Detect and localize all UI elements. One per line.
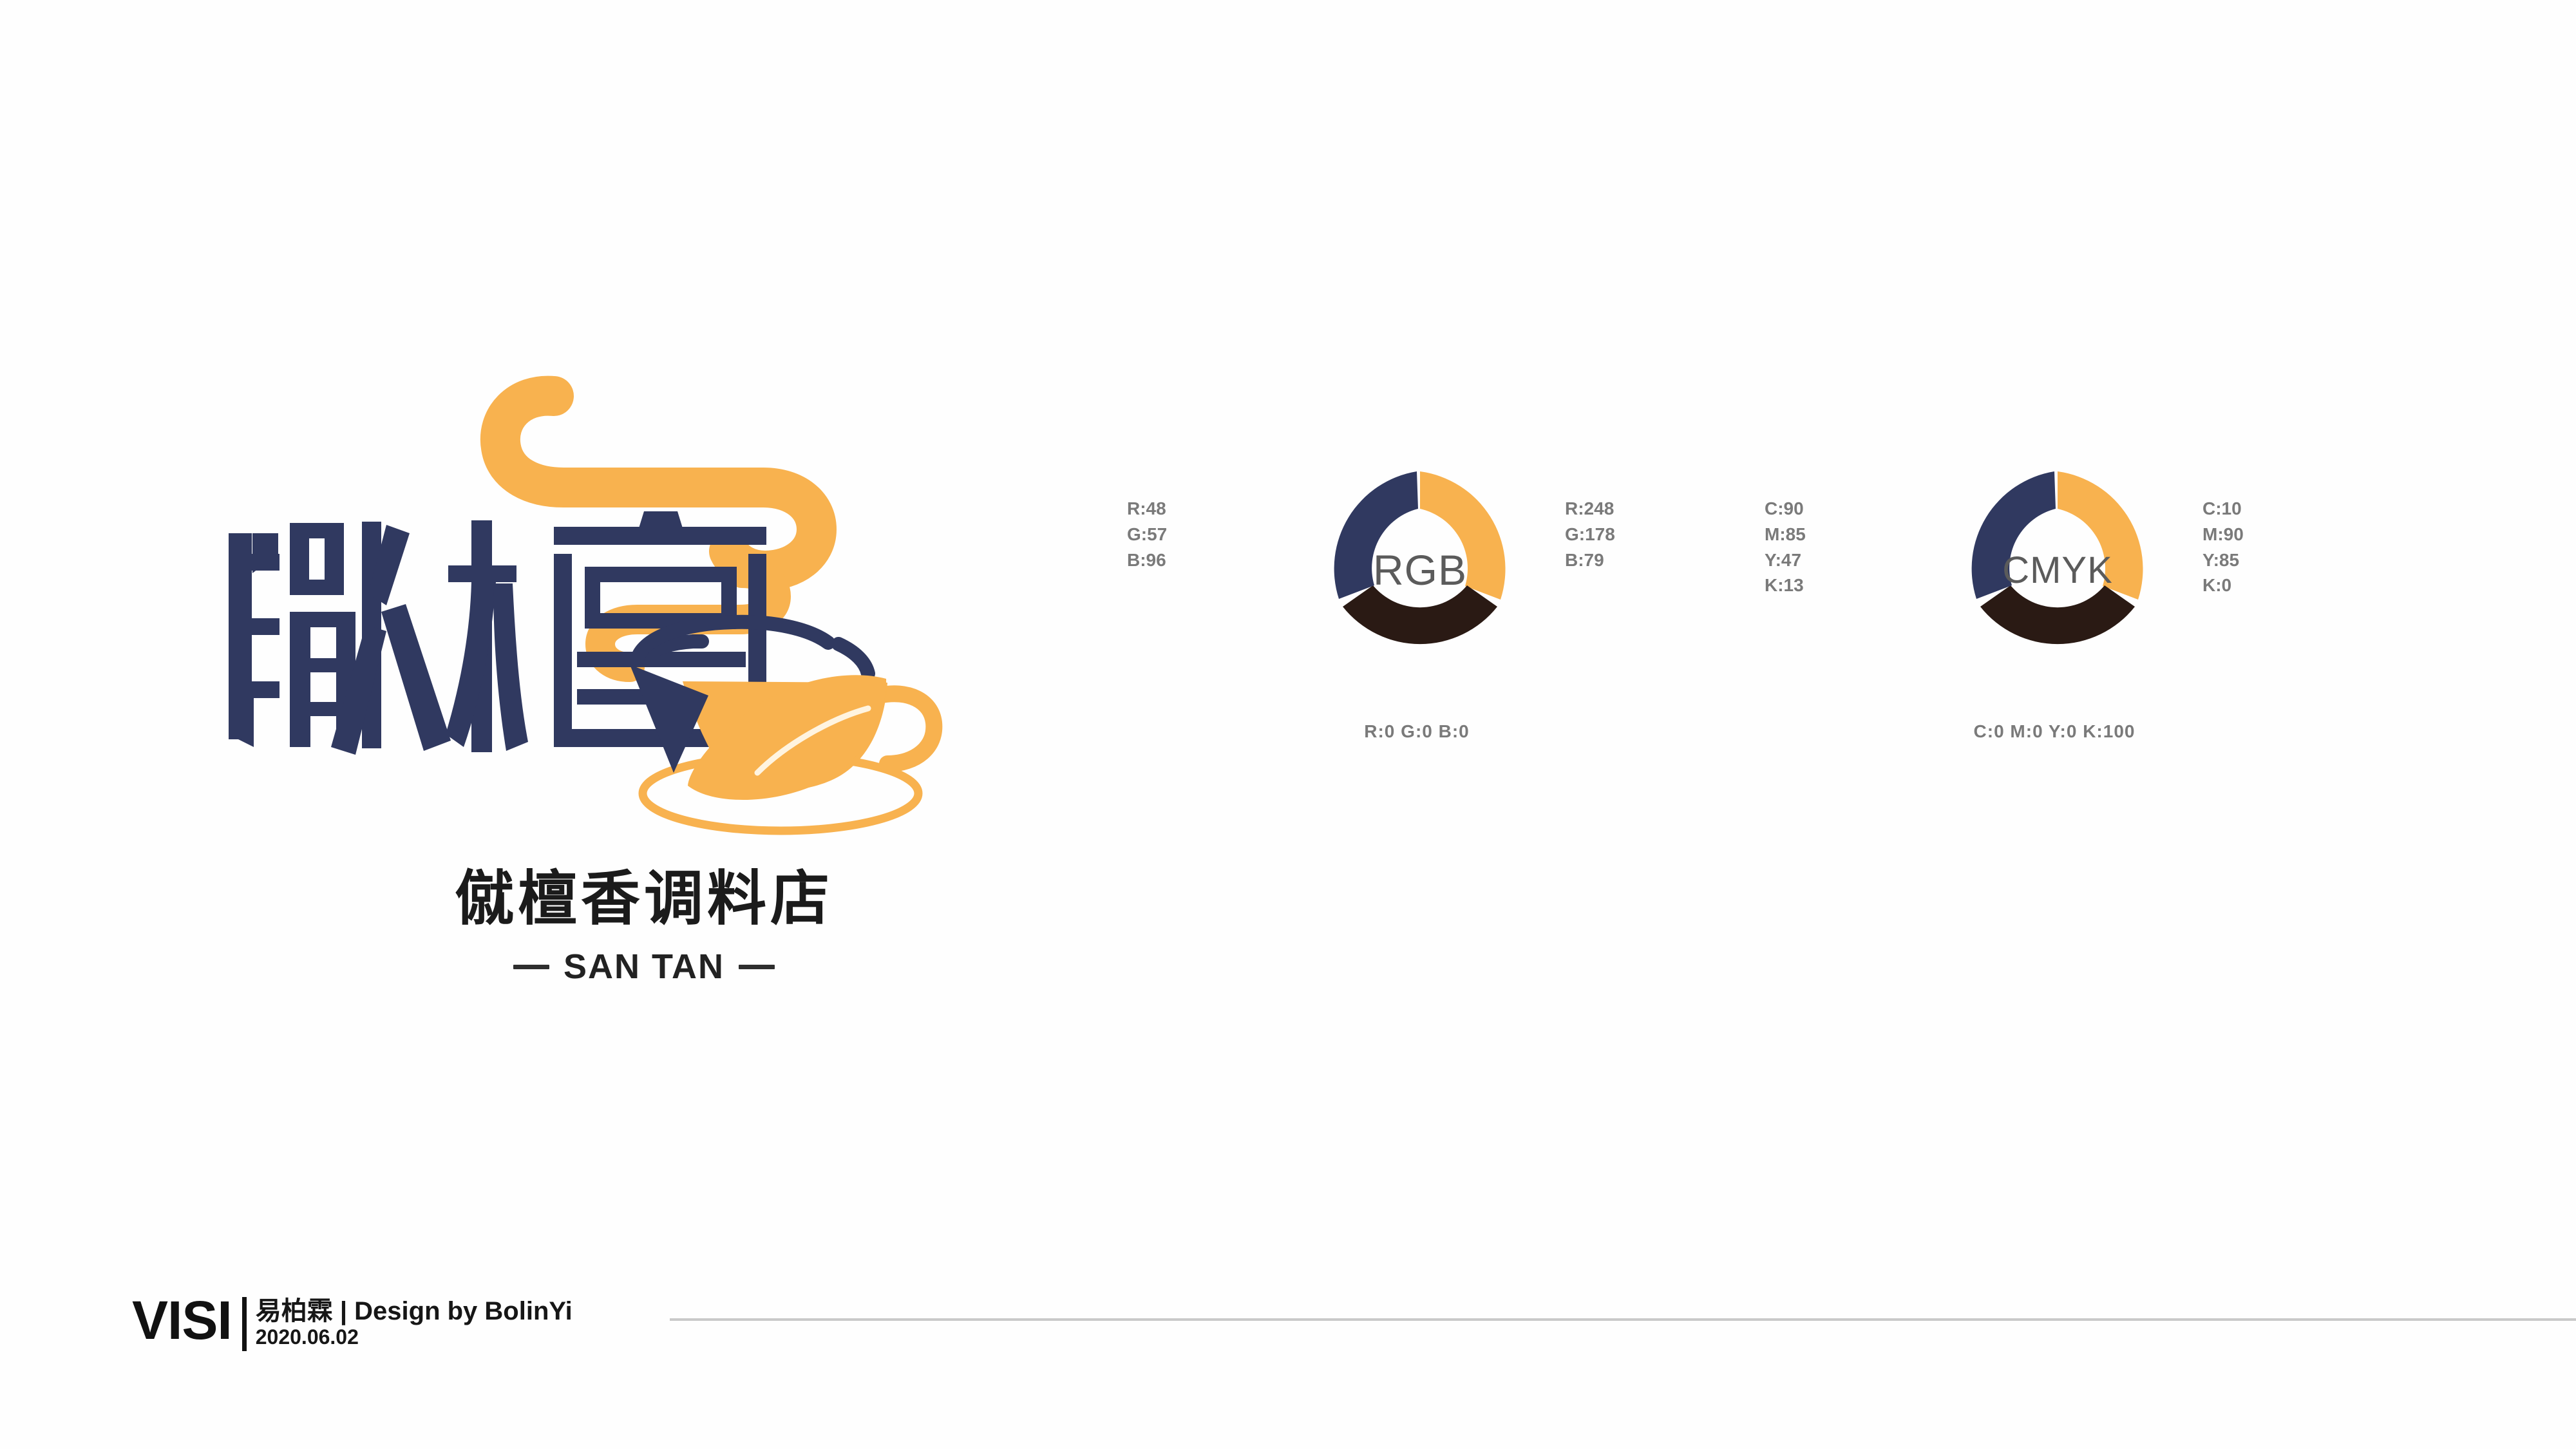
rgb-orange-r: R:248 — [1565, 496, 1615, 522]
cmyk-navy-c: C:90 — [1765, 496, 1806, 522]
rule-dash-right — [739, 965, 775, 969]
wordmark-glyph-1 — [229, 522, 451, 755]
latin-name: SAN TAN — [563, 947, 724, 987]
rgb-orange-b: B:79 — [1565, 547, 1615, 573]
cmyk-navy-k: K:13 — [1765, 573, 1806, 598]
rgb-navy-r: R:48 — [1127, 496, 1167, 522]
cmyk-orange-m: M:90 — [2202, 522, 2244, 547]
cmyk-donut: CMYK — [1951, 464, 2164, 676]
cmyk-orange-c: C:10 — [2202, 496, 2244, 522]
rgb-label-black: R:0 G:0 B:0 — [1127, 721, 1707, 742]
footer-divider — [670, 1318, 2576, 1321]
cmyk-label-orange: C:10 M:90 Y:85 K:0 — [2202, 496, 2244, 598]
cmyk-color-chart: C:90 M:85 Y:47 K:13 C:10 M:90 Y:85 K:0 C… — [1765, 451, 2344, 979]
rgb-navy-g: G:57 — [1127, 522, 1167, 547]
footer-vertical-bar — [242, 1297, 247, 1351]
rgb-orange-g: G:178 — [1565, 522, 1615, 547]
cmyk-segment-navy — [1972, 471, 2056, 599]
rgb-donut: RGB — [1314, 464, 1526, 676]
cmyk-orange-y: Y:85 — [2202, 547, 2244, 573]
cmyk-segment-black — [1980, 585, 2135, 644]
cmyk-label-black: C:0 M:0 Y:0 K:100 — [1765, 721, 2344, 742]
footer-visi-label: VISI — [132, 1296, 232, 1345]
cmyk-navy-y: Y:47 — [1765, 547, 1806, 573]
footer-credit-line: 易柏霖 | Design by BolinYi — [256, 1297, 573, 1326]
latin-name-row: SAN TAN — [213, 947, 1075, 987]
cmyk-segment-orange — [2058, 471, 2143, 600]
rule-dash-left — [513, 965, 549, 969]
rgb-label-orange: R:248 G:178 B:79 — [1565, 496, 1615, 573]
rgb-label-navy: R:48 G:57 B:96 — [1127, 496, 1167, 573]
page-footer: VISI 易柏霖 | Design by BolinYi 2020.06.02 — [0, 1282, 2576, 1385]
footer-date: 2020.06.02 — [256, 1326, 573, 1349]
rgb-color-chart: R:48 G:57 B:96 R:248 G:178 B:79 RGB R:0 … — [1127, 451, 1707, 979]
footer-credit-block: 易柏霖 | Design by BolinYi 2020.06.02 — [256, 1296, 573, 1349]
cmyk-label-navy: C:90 M:85 Y:47 K:13 — [1765, 496, 1806, 598]
cmyk-orange-k: K:0 — [2202, 573, 2244, 598]
logo-mark — [193, 361, 1095, 876]
cmyk-navy-m: M:85 — [1765, 522, 1806, 547]
footer-brand: VISI 易柏霖 | Design by BolinYi 2020.06.02 — [132, 1296, 573, 1351]
rgb-segment-black — [1343, 585, 1497, 644]
wordmark-tagline: 僦檀香调料店 — [213, 869, 1075, 929]
brand-logo-block: 僦檀香调料店 SAN TAN — [193, 361, 1095, 1037]
rgb-segment-navy — [1334, 471, 1418, 599]
rgb-segment-orange — [1420, 471, 1506, 600]
rgb-navy-b: B:96 — [1127, 547, 1167, 573]
